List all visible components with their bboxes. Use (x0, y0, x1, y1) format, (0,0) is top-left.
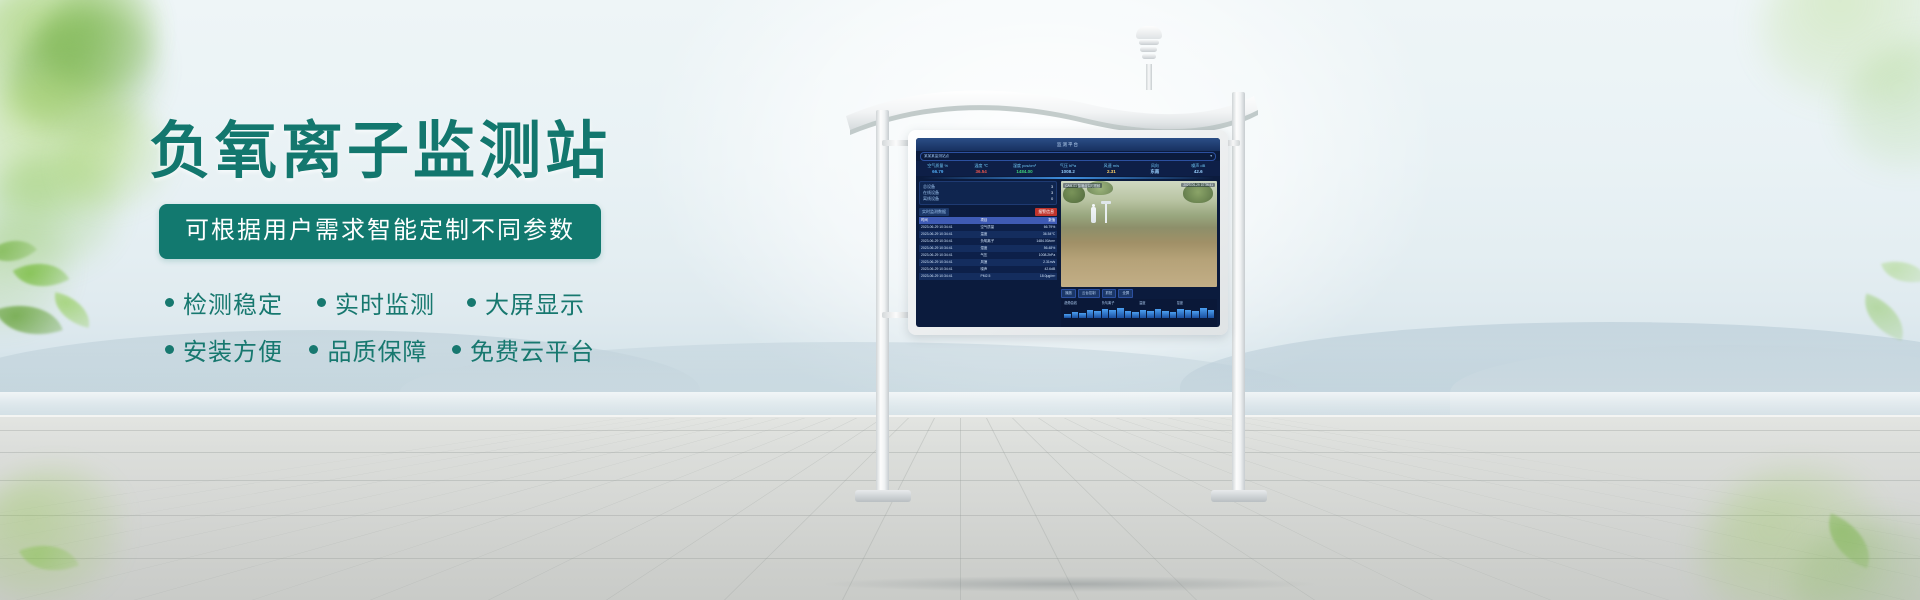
kpi-tile: 湿度 pcs/cm³1484.00 (1003, 163, 1046, 175)
dashboard-left-column: 总设备3在线设备3离线设备0 实时监测数据 报警信息 时间项目数值2023-06… (916, 181, 1060, 327)
kiosk-brace (882, 312, 910, 318)
bullet-dot-icon (165, 345, 174, 354)
feature-item: 大屏显示 (467, 285, 585, 320)
bullet-dot-icon (317, 298, 326, 307)
display-screen-frame: 监测平台 某某某监测站点 ▾ 空气质量 %66.79温度 ℃36.54湿度 pc… (908, 130, 1228, 335)
table-header-row: 时间项目数值 (919, 217, 1057, 224)
feature-row: 检测稳定 实时监测 大屏显示 (165, 285, 595, 320)
kiosk-post-right (1232, 92, 1245, 500)
bullet-dot-icon (452, 345, 461, 354)
table-cell: 2023-06-29 10:34:41 (919, 273, 979, 280)
feature-item: 安装方便 (165, 332, 309, 367)
device-stats-box: 总设备3在线设备3离线设备0 (919, 181, 1057, 205)
camera-control-button[interactable]: 抓拍 (1102, 289, 1117, 298)
dashboard-body: 总设备3在线设备3离线设备0 实时监测数据 报警信息 时间项目数值2023-06… (916, 181, 1220, 327)
feature-label: 品质保障 (327, 332, 427, 367)
kpi-tile: 风向东南 (1133, 163, 1176, 175)
trend-legend: 趋势曲线 负氧离子 温度 湿度 (1064, 300, 1214, 306)
table-cell: 1008.2hPa (1015, 252, 1057, 259)
camera-control-button[interactable]: 播放 (1061, 289, 1076, 298)
table-cell: 2023-06-29 10:34:41 (919, 245, 979, 252)
feature-list: 检测稳定 实时监测 大屏显示 安装方便 品质保障 免费云平台 (165, 285, 595, 367)
table-cell: 气压 (979, 252, 1016, 259)
table-row: 2023-06-29 10:34:41温度36.54℃ (919, 231, 1057, 238)
table-row: 2023-06-29 10:34:41风速2.31m/s (919, 259, 1057, 266)
table-cell: 2023-06-29 10:34:41 (919, 224, 979, 231)
bullet-dot-icon (165, 298, 174, 307)
trend-mini-chart (1064, 306, 1214, 318)
table-row: 2023-06-29 10:34:41噪声42.6dB (919, 266, 1057, 273)
feature-item: 实时监测 (317, 285, 467, 320)
kiosk-post-left (876, 110, 889, 500)
bullet-dot-icon (309, 345, 318, 354)
table-row: 2023-06-29 10:34:41PM2.518.0μg/m³ (919, 273, 1057, 280)
bullet-dot-icon (467, 298, 476, 307)
divider (922, 177, 1214, 179)
feature-label: 大屏显示 (485, 285, 585, 320)
kiosk-brace (882, 140, 910, 146)
table-cell: 2.31m/s (1015, 259, 1057, 266)
table-row: 2023-06-29 10:34:41气压1008.2hPa (919, 252, 1057, 259)
dashboard-screen[interactable]: 监测平台 某某某监测站点 ▾ 空气质量 %66.79温度 ℃36.54湿度 pc… (916, 138, 1220, 327)
station-select-value: 某某某监测站点 (924, 153, 949, 160)
table-row: 2023-06-29 10:34:41空气质量66.79% (919, 224, 1057, 231)
trend-panel: 趋势曲线 负氧离子 温度 湿度 (1061, 299, 1217, 327)
monitoring-kiosk: 监测平台 某某某监测站点 ▾ 空气质量 %66.79温度 ℃36.54湿度 pc… (840, 20, 1290, 600)
table-cell: 2023-06-29 10:34:41 (919, 238, 979, 245)
legend-item: 负氧离子 (1102, 300, 1139, 306)
table-cell: 18.0μg/m³ (1015, 273, 1057, 280)
column-header: 数值 (1015, 217, 1057, 224)
table-tab-label[interactable]: 实时监测数据 (919, 208, 949, 216)
banner-stage: 负氧离子监测站 可根据用户需求智能定制不同参数 检测稳定 实时监测 大屏显示 安… (0, 0, 1920, 600)
subtitle-badge: 可根据用户需求智能定制不同参数 (159, 204, 601, 259)
feature-label: 安装方便 (183, 332, 283, 367)
station-select[interactable]: 某某某监测站点 ▾ (920, 152, 1216, 161)
feature-label: 检测稳定 (183, 285, 283, 320)
person-in-feed (1091, 207, 1096, 223)
kpi-bar: 空气质量 %66.79温度 ℃36.54湿度 pcs/cm³1484.00气压 … (916, 161, 1220, 176)
kpi-value: 东南 (1133, 169, 1176, 175)
table-cell: 2023-06-29 10:34:41 (919, 266, 979, 273)
camera-control-button[interactable]: 全屏 (1118, 289, 1133, 298)
table-cell: PM2.5 (979, 273, 1016, 280)
table-cell: 2023-06-29 10:34:41 (919, 231, 979, 238)
dashboard-header: 监测平台 (916, 138, 1220, 151)
feature-label: 实时监测 (335, 285, 435, 320)
kiosk-base-right (1211, 490, 1267, 502)
table-cell: 湿度 (979, 245, 1016, 252)
chevron-down-icon: ▾ (1210, 153, 1212, 160)
kpi-value: 1484.00 (1003, 169, 1046, 175)
camera-feed[interactable]: CAM-01 监测点实时视频 2023-06-29 10:34:41 (1061, 181, 1217, 287)
table-cell: 负氧离子 (979, 238, 1016, 245)
table-cell: 2023-06-29 10:34:41 (919, 252, 979, 259)
feature-item: 品质保障 (309, 332, 452, 367)
stat-value: 0 (1051, 196, 1053, 202)
table-row: 2023-06-29 10:34:41湿度56.48% (919, 245, 1057, 252)
table-cell: 1484.00/cm³ (1015, 238, 1057, 245)
legend-item: 湿度 (1177, 300, 1214, 306)
stat-label: 离线设备 (923, 196, 939, 202)
table-cell: 温度 (979, 231, 1016, 238)
table-cell: 噪声 (979, 266, 1016, 273)
kpi-tile: 噪声 dB42.6 (1177, 163, 1220, 175)
dashboard-title: 监测平台 (1057, 142, 1079, 148)
kpi-value: 66.79 (916, 169, 959, 175)
camera-control-button[interactable]: 云台控制 (1078, 289, 1100, 298)
table-cell: 2023-06-29 10:34:41 (919, 259, 979, 266)
kiosk-base-left (855, 490, 911, 502)
feature-row: 安装方便 品质保障 免费云平台 (165, 332, 595, 367)
table-cell: 66.79% (1015, 224, 1057, 231)
camera-controls: 播放云台控制抓拍全屏 (1061, 287, 1217, 299)
table-header-bar: 实时监测数据 报警信息 (919, 208, 1057, 216)
feed-overlay-right: 2023-06-29 10:34:41 (1181, 183, 1215, 187)
kpi-value: 1008.2 (1046, 169, 1089, 175)
kpi-value: 2.31 (1090, 169, 1133, 175)
kpi-value: 36.54 (959, 169, 1002, 175)
kpi-value: 42.6 (1177, 169, 1220, 175)
legend-item: 温度 (1139, 300, 1176, 306)
table-cell: 36.54℃ (1015, 231, 1057, 238)
table-cell: 风速 (979, 259, 1016, 266)
table-cell: 空气质量 (979, 224, 1016, 231)
kpi-tile: 温度 ℃36.54 (959, 163, 1002, 175)
column-header: 项目 (979, 217, 1016, 224)
table-row: 2023-06-29 10:34:41负氧离子1484.00/cm³ (919, 238, 1057, 245)
table-cell: 42.6dB (1015, 266, 1057, 273)
feature-item: 免费云平台 (452, 332, 595, 367)
column-header: 时间 (919, 217, 979, 224)
kiosk-brace (1226, 140, 1240, 146)
data-table: 时间项目数值2023-06-29 10:34:41空气质量66.79%2023-… (919, 217, 1057, 327)
kpi-tile: 气压 hPa1008.2 (1046, 163, 1089, 175)
hero-text-block: 负氧离子监测站 可根据用户需求智能定制不同参数 检测稳定 实时监测 大屏显示 安… (0, 120, 760, 379)
kpi-tile: 风速 m/s2.31 (1090, 163, 1133, 175)
feature-item: 检测稳定 (165, 285, 317, 320)
page-title: 负氧离子监测站 (0, 120, 760, 182)
weather-sensor-icon (1132, 20, 1166, 86)
dashboard-right-column: CAM-01 监测点实时视频 2023-06-29 10:34:41 播放云台控… (1060, 181, 1220, 327)
stat-row: 离线设备0 (923, 196, 1053, 202)
alert-badge[interactable]: 报警信息 (1035, 208, 1057, 216)
feature-label: 免费云平台 (470, 332, 595, 367)
table-cell: 56.48% (1015, 245, 1057, 252)
kpi-tile: 空气质量 %66.79 (916, 163, 959, 175)
feed-overlay-left: CAM-01 监测点实时视频 (1063, 183, 1102, 188)
trend-label: 趋势曲线 (1064, 300, 1101, 306)
